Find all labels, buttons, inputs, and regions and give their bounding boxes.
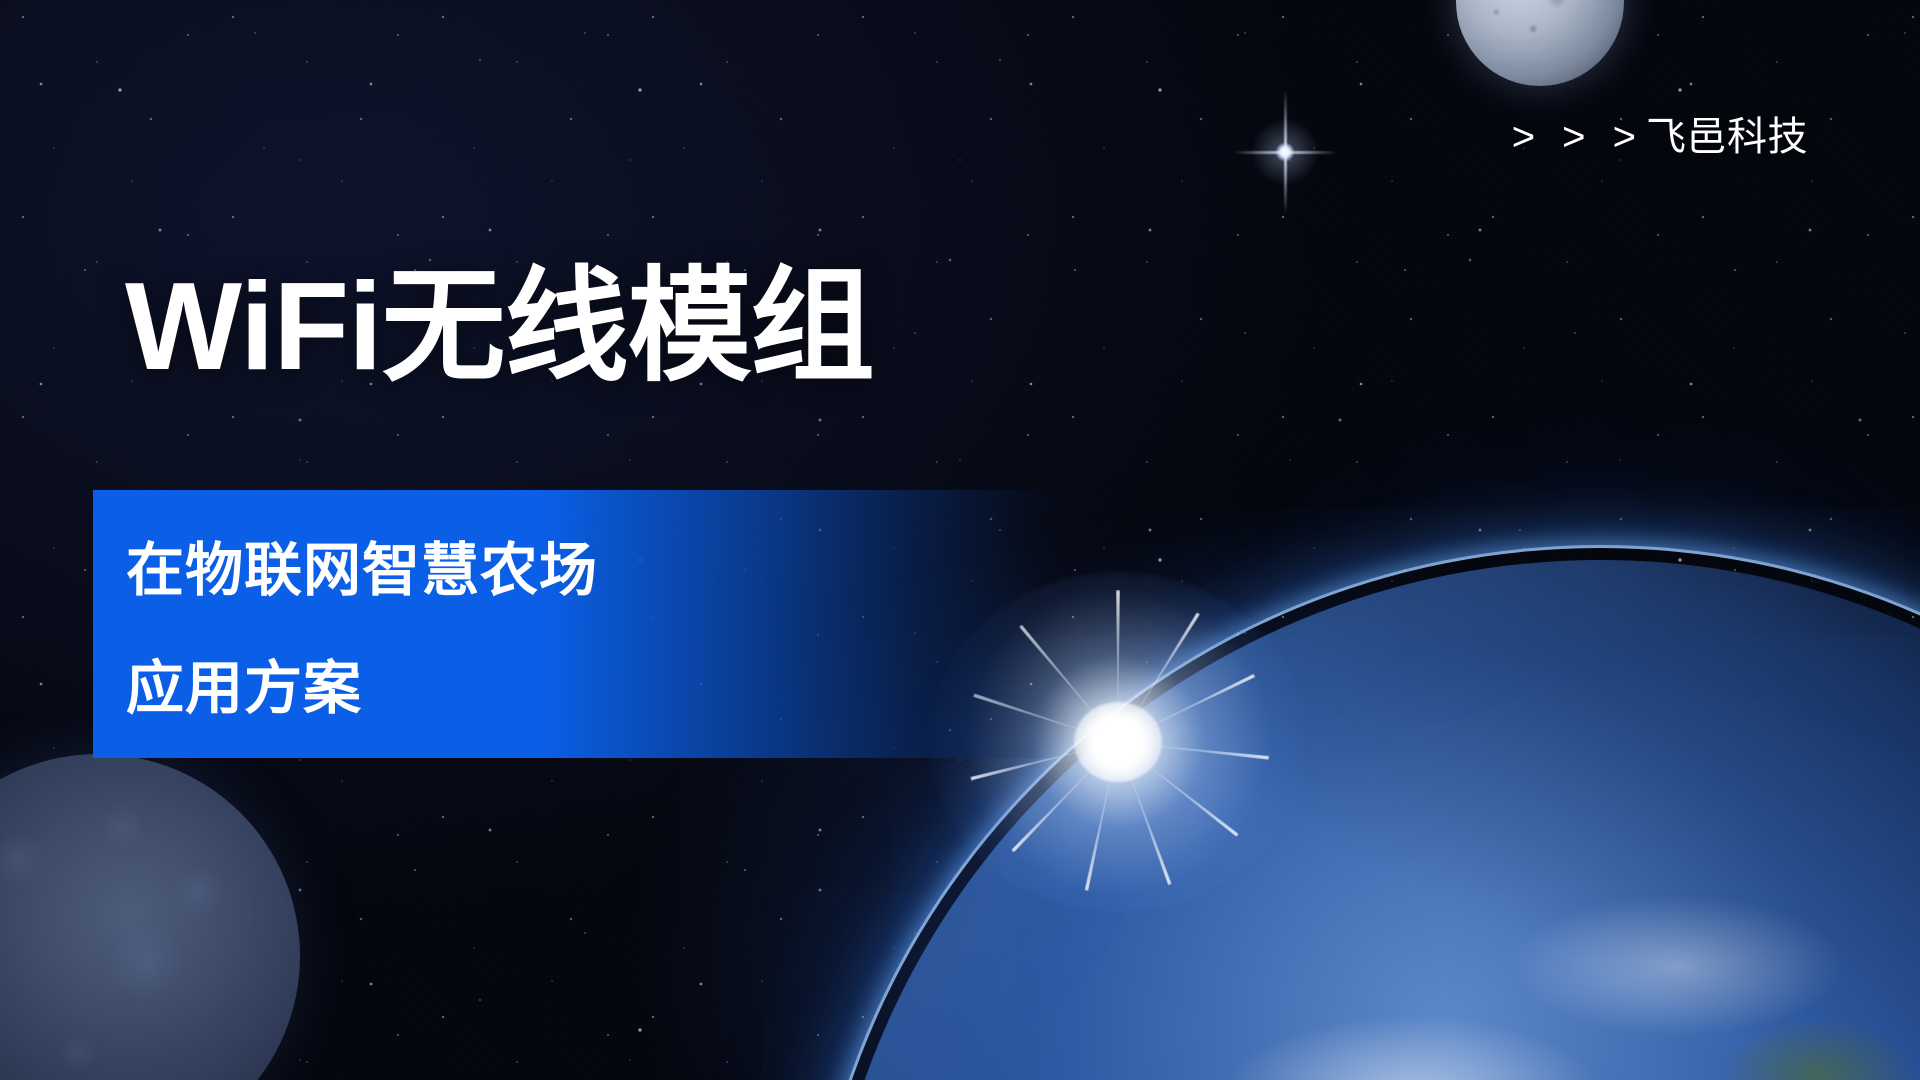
subtitle-line-2: 应用方案 — [126, 630, 1026, 748]
subtitle-text: 在物联网智慧农场 应用方案 — [126, 512, 1026, 748]
brand-chevrons: > > > — [1512, 115, 1644, 159]
brand-mark: > > >飞邑科技 — [1512, 104, 1808, 162]
sun-core — [1074, 702, 1162, 782]
slide-canvas: > > >飞邑科技 WiFi无线模组 在物联网智慧农场 应用方案 — [0, 0, 1920, 1080]
page-title: WiFi无线模组 — [125, 264, 874, 390]
star-core — [1276, 143, 1294, 161]
subtitle-line-1: 在物联网智慧农场 — [126, 512, 1026, 630]
brand-name: 飞邑科技 — [1646, 115, 1808, 159]
